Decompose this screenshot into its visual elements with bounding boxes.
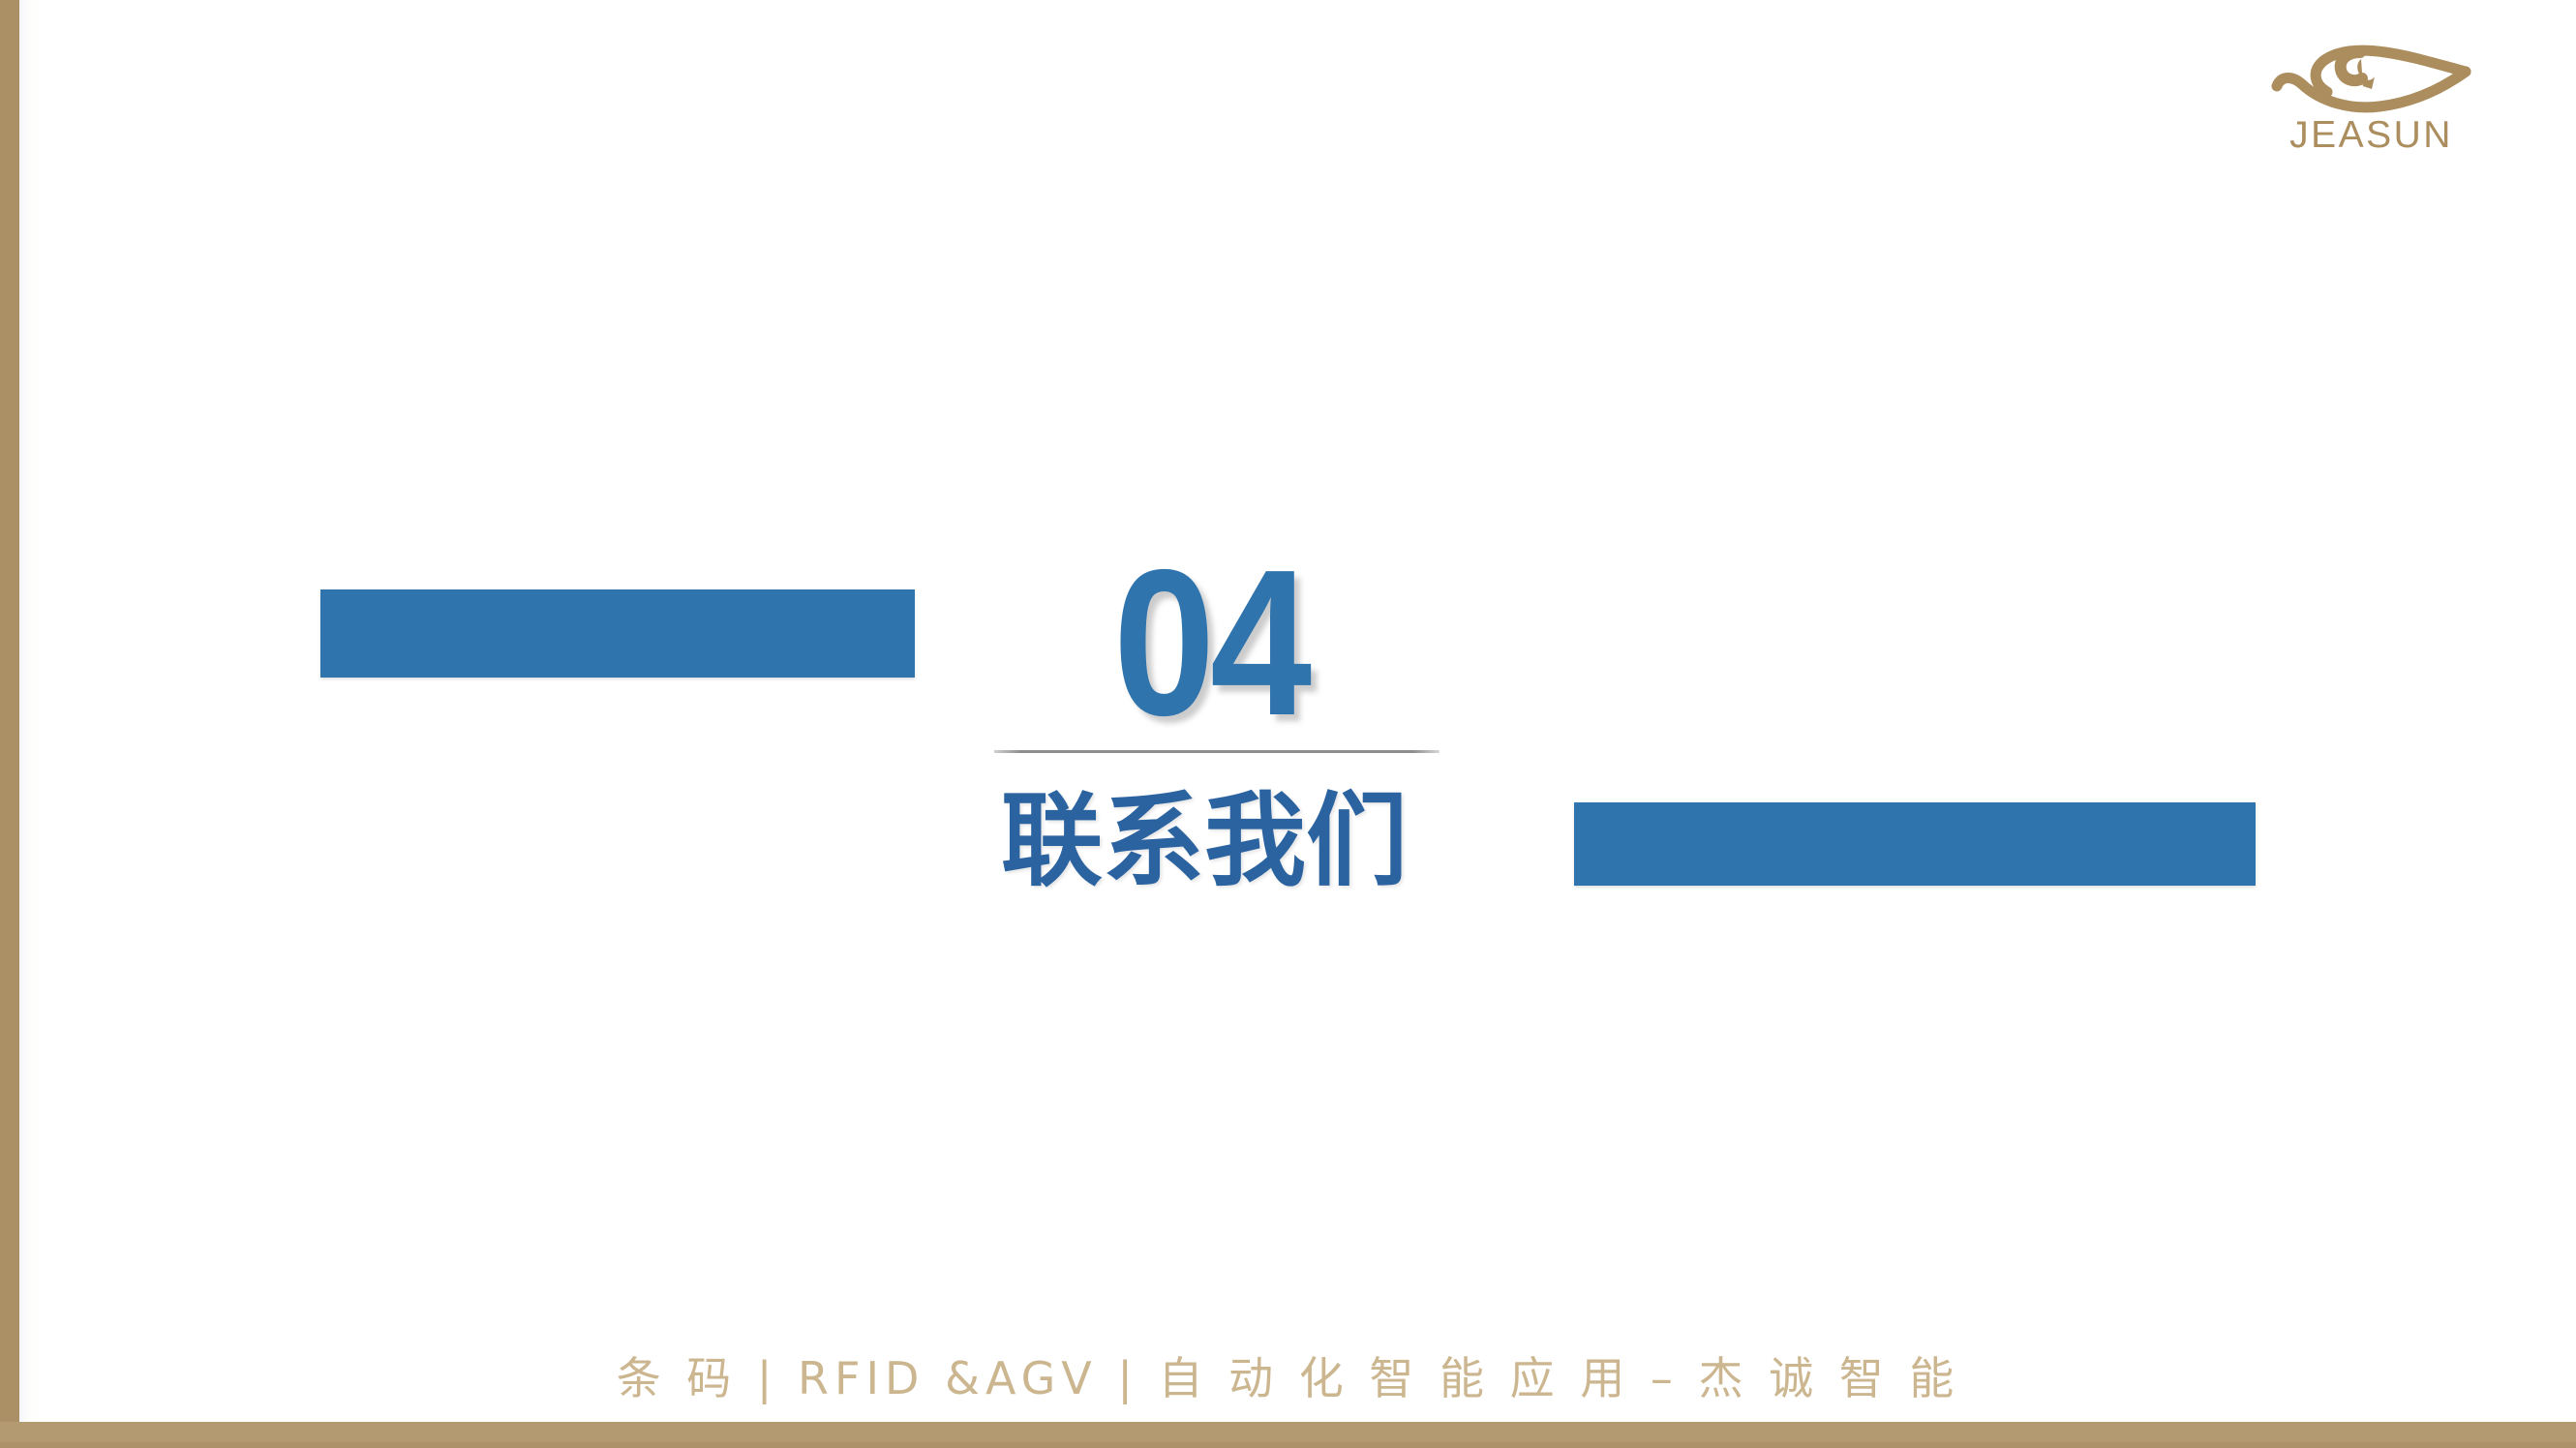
footer-tagline: 条 码 | RFID &AGV | 自 动 化 智 能 应 用 – 杰 诚 智 … (0, 1348, 2576, 1408)
slide-border-bottom-shadow (0, 1442, 2576, 1448)
slide-paper-edge (19, 0, 41, 1423)
slide-border-left (0, 0, 19, 1448)
accent-bar-upper-left (320, 589, 915, 678)
slide-canvas: JEASUN 04 联系我们 条 码 | RFID &AGV | 自 动 化 智… (0, 0, 2576, 1448)
brand-logo: JEASUN (2267, 33, 2475, 159)
section-title: 联系我们 (1001, 784, 1504, 898)
accent-bar-lower-right (1574, 802, 2256, 886)
jeasun-swoosh-icon (2267, 33, 2475, 120)
logo-wordmark: JEASUN (2267, 114, 2475, 157)
section-divider (994, 750, 1440, 753)
section-number: 04 (1113, 538, 1386, 746)
